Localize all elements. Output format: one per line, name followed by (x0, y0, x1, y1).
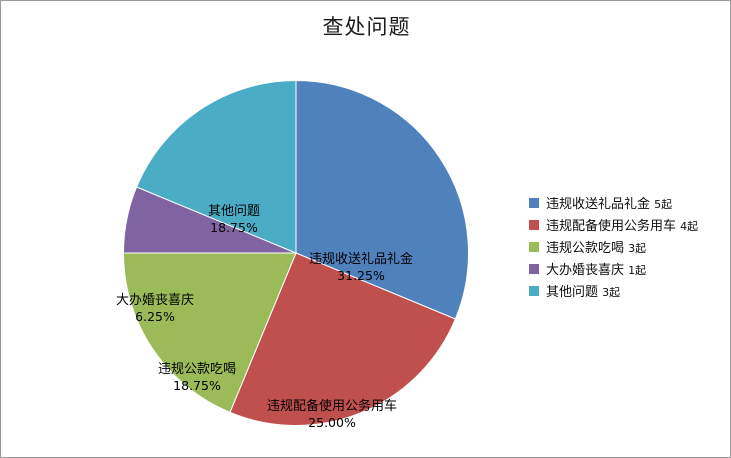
legend-item-count: 3起 (628, 242, 646, 255)
chart-page: 查处问题 违规收送礼品礼金31.25%违规配备使用公务用车25.00%违规公款吃… (0, 0, 731, 458)
legend-item-count: 4起 (680, 220, 698, 233)
legend-item[interactable]: 大办婚丧喜庆 1起 (529, 258, 698, 279)
legend-item-label: 大办婚丧喜庆 1起 (546, 259, 646, 278)
legend-item-count: 1起 (628, 264, 646, 277)
legend-item-count: 3起 (602, 286, 620, 299)
legend-item-count: 5起 (654, 198, 672, 211)
legend-item-label: 违规收送礼品礼金 5起 (546, 193, 672, 212)
chart-title: 查处问题 (1, 11, 731, 41)
pie-chart-svg (123, 80, 469, 426)
legend-color-swatch-icon (529, 264, 539, 274)
legend-color-swatch-icon (529, 220, 539, 230)
legend-item-label: 其他问题 3起 (546, 281, 620, 300)
chart-legend: 违规收送礼品礼金 5起违规配备使用公务用车 4起违规公款吃喝 3起大办婚丧喜庆 … (529, 192, 698, 302)
legend-item-label: 违规公款吃喝 3起 (546, 237, 646, 256)
pie-slice-group (124, 81, 469, 426)
legend-item[interactable]: 违规公款吃喝 3起 (529, 236, 698, 257)
legend-color-swatch-icon (529, 198, 539, 208)
legend-item[interactable]: 违规收送礼品礼金 5起 (529, 192, 698, 213)
legend-color-swatch-icon (529, 242, 539, 252)
pie-chart-plot-area: 违规收送礼品礼金31.25%违规配备使用公务用车25.00%违规公款吃喝18.7… (123, 80, 469, 426)
legend-item[interactable]: 违规配备使用公务用车 4起 (529, 214, 698, 235)
legend-color-swatch-icon (529, 286, 539, 296)
legend-item-label: 违规配备使用公务用车 4起 (546, 215, 698, 234)
legend-item[interactable]: 其他问题 3起 (529, 280, 698, 301)
